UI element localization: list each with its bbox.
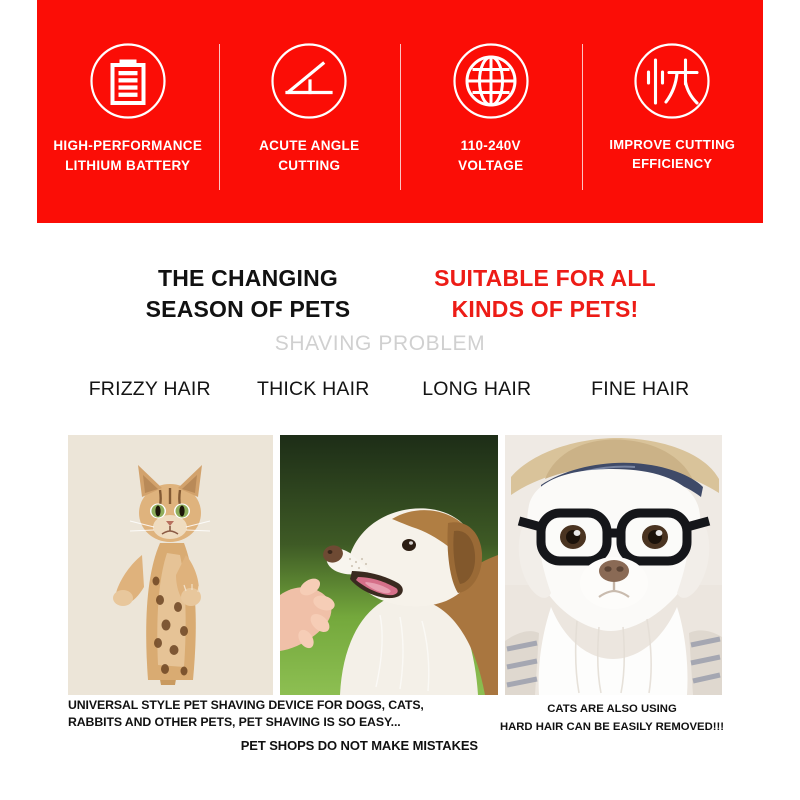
feature-label-voltage: 110-240V VOLTAGE	[458, 136, 523, 175]
battery-icon	[89, 42, 167, 120]
hair-type-fine: FINE HAIR	[559, 378, 723, 401]
bengal-cat-standing-photo	[68, 435, 273, 695]
border-collie-dog-photo	[280, 435, 498, 695]
hair-type-row: FRIZZY HAIR THICK HAIR LONG HAIR FINE HA…	[68, 378, 722, 401]
feature-item-acute-angle: ACUTE ANGLE CUTTING	[219, 0, 401, 223]
feature-label-efficiency: IMPROVE CUTTING EFFICIENCY	[609, 136, 735, 174]
caption-left-line-3: PET SHOPS DO NOT MAKE MISTAKES	[68, 737, 478, 755]
acute-angle-icon	[270, 42, 348, 120]
caption-right: CATS ARE ALSO USING HARD HAIR CAN BE EAS…	[498, 700, 726, 737]
feature-item-efficiency: IMPROVE CUTTING EFFICIENCY	[582, 0, 764, 223]
caption-right-line-1: CATS ARE ALSO USING	[498, 700, 726, 718]
hair-type-long: LONG HAIR	[395, 378, 559, 401]
fast-character-icon	[633, 42, 711, 120]
photo-strip	[68, 435, 722, 695]
hair-type-thick: THICK HAIR	[232, 378, 396, 401]
headline-area: THE CHANGING SEASON OF PETS SUITABLE FOR…	[0, 255, 800, 365]
maltese-dog-glasses-photo	[505, 435, 722, 695]
feature-item-voltage: 110-240V VOLTAGE	[400, 0, 582, 223]
headline-watermark: SHAVING PROBLEM	[190, 332, 570, 356]
caption-left-line-1: UNIVERSAL STYLE PET SHAVING DEVICE FOR D…	[68, 697, 478, 714]
feature-label-battery: HIGH-PERFORMANCE LITHIUM BATTERY	[53, 136, 202, 175]
feature-banner: HIGH-PERFORMANCE LITHIUM BATTERY ACUTE A…	[37, 0, 763, 223]
caption-right-line-2: HARD HAIR CAN BE EASILY REMOVED!!!	[498, 718, 726, 736]
caption-left-line-2: RABBITS AND OTHER PETS, PET SHAVING IS S…	[68, 714, 478, 731]
feature-label-acute-angle: ACUTE ANGLE CUTTING	[259, 136, 359, 175]
caption-left: UNIVERSAL STYLE PET SHAVING DEVICE FOR D…	[68, 697, 478, 755]
globe-icon	[452, 42, 530, 120]
headline-left: THE CHANGING SEASON OF PETS	[118, 263, 378, 326]
feature-item-battery: HIGH-PERFORMANCE LITHIUM BATTERY	[37, 0, 219, 223]
hair-type-frizzy: FRIZZY HAIR	[68, 378, 232, 401]
headline-right: SUITABLE FOR ALL KINDS OF PETS!	[400, 263, 690, 326]
